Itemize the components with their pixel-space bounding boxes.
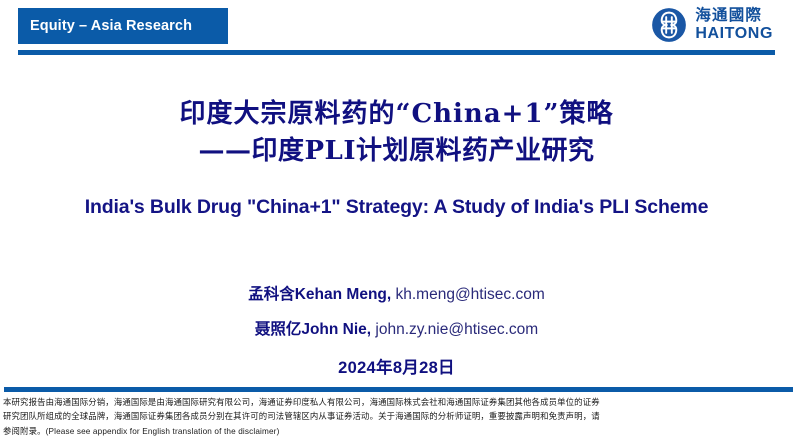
footer-divider-rule [4, 387, 793, 392]
author-email[interactable]: john.zy.nie@htisec.com [375, 321, 538, 338]
author-block: 孟科含Kehan Meng, kh.meng@htisec.com 聂照亿Joh… [0, 278, 793, 378]
author-name: 聂照亿John Nie, [255, 321, 371, 338]
title-chinese-line-1: 印度大宗原料药的“China+1”策略 [0, 96, 793, 133]
title-chinese-line-2: ——印度PLI计划原料药产业研究 [0, 133, 793, 170]
haitong-logo: 海通國際 HAITONG [651, 7, 773, 43]
title-english: India's Bulk Drug "China+1" Strategy: A … [0, 196, 793, 219]
equity-research-banner: Equity – Asia Research [18, 8, 228, 44]
title-block: 印度大宗原料药的“China+1”策略 ——印度PLI计划原料药产业研究 [0, 96, 793, 170]
author-row: 聂照亿John Nie, john.zy.nie@htisec.com [0, 313, 793, 348]
author-email[interactable]: kh.meng@htisec.com [396, 286, 545, 303]
disclaimer-line-3: 参阅附录。(Please see appendix for English tr… [3, 424, 792, 439]
banner-label: Equity – Asia Research [30, 18, 192, 34]
haitong-circular-emblem-icon [651, 7, 687, 43]
header-divider-rule [18, 50, 775, 55]
publication-date: 2024年8月28日 [0, 354, 793, 378]
disclaimer-line-3-english: (Please see appendix for English transla… [46, 427, 280, 436]
disclaimer-line-1: 本研究报告由海通国际分销，海通国际是由海通国际研究有限公司，海通证券印度私人有限… [3, 395, 792, 409]
disclaimer-line-3-chinese: 参阅附录。 [3, 426, 46, 436]
disclaimer-line-2: 研究团队所组成的全球品牌，海通国际证券集团各成员分别在其许可的司法管辖区内从事证… [3, 409, 792, 423]
author-name: 孟科含Kehan Meng, [248, 286, 391, 303]
disclaimer-block: 本研究报告由海通国际分销，海通国际是由海通国际研究有限公司，海通证券印度私人有限… [3, 395, 792, 439]
slide-header: Equity – Asia Research 海通國際 HAITO [0, 0, 793, 58]
haitong-logo-name-en: HAITONG [695, 26, 773, 42]
author-row: 孟科含Kehan Meng, kh.meng@htisec.com [0, 278, 793, 313]
haitong-logo-name-cn: 海通國際 [695, 8, 773, 24]
haitong-logo-text: 海通國際 HAITONG [695, 8, 773, 42]
